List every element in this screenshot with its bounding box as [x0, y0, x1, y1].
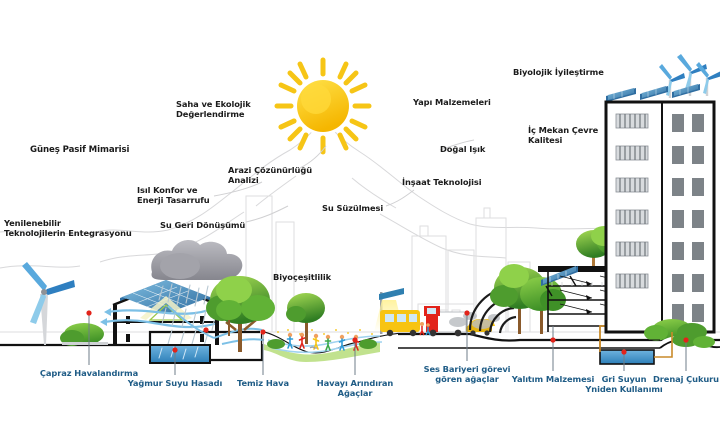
label-dogal-isik: Doğal Işık — [440, 145, 485, 155]
underground-systems — [398, 332, 720, 364]
label-su-geri-donusumu: Su Geri Dönüşümü — [160, 221, 245, 231]
label-insaat-teknolojisi: İnşaat Teknolojisi — [402, 178, 482, 188]
label-biyolojik-iyilestirme: Biyolojik İyileştirme — [513, 68, 604, 78]
label-gunes-pasif-mimarisi: Güneş Pasif Mimarisi — [30, 145, 129, 155]
label-yalitim-malzemesi: Yalıtım Malzemesi — [512, 375, 594, 385]
label-saha-ve-ekolojik-degerlendirme: Saha ve Ekolojik Değerlendirme — [176, 100, 251, 120]
label-biyocesitlilik: Biyoçeşitlilik — [273, 273, 331, 283]
infographic-canvas: Güneş Pasif MimarisiSaha ve Ekolojik Değ… — [0, 0, 720, 427]
label-gri-suyun-yeniden-kullanimi: Gri Suyun Yniden Kullanımı — [585, 375, 662, 395]
label-arazi-cozunurlugu-analizi: Arazi Çözünürlüğü Analizi — [228, 166, 312, 186]
tower-block-with-solar-and-turbines — [606, 54, 720, 332]
label-yagmur-suyu-hasadi: Yağmur Suyu Hasadı — [128, 379, 222, 389]
label-ses-bariyeri-gorevi-goren-agaclar: Ses Bariyeri görevi gören ağaçlar — [424, 365, 511, 385]
label-drenaj-cukuru: Drenaj Çukuru — [653, 375, 719, 385]
rain-cloud-icon — [151, 240, 242, 280]
wind-turbine-icon — [22, 262, 108, 346]
label-yapi-malzemeleri: Yapı Malzemeleri — [413, 98, 491, 108]
label-ic-mekan-cevre-kalitesi: İç Mekan Çevre Kalitesi — [528, 126, 598, 146]
label-capraz-havalandirma: Çapraz Havalandırma — [40, 369, 138, 379]
label-isil-konfor-ve-enerji-tasarrufu: Isıl Konfor ve Enerji Tasarrufu — [137, 186, 210, 206]
house-with-solar-panels — [100, 280, 219, 345]
label-su-suzulmesi: Su Süzülmesi — [322, 204, 383, 214]
tree-medium-center — [286, 293, 325, 344]
label-havayi-arindiran-agaclar: Havayı Arındıran Ağaçlar — [317, 379, 393, 399]
sun-icon — [277, 60, 369, 152]
greywater-tank — [600, 350, 654, 364]
park-with-people — [264, 329, 382, 362]
rainwater-basin — [150, 345, 210, 363]
label-yenilenebilir-teknolojilerin-entegrasyonu: Yenilenebilir Teknolojilerin Entegrasyon… — [4, 219, 132, 239]
label-temiz-hava: Temiz Hava — [237, 379, 289, 389]
